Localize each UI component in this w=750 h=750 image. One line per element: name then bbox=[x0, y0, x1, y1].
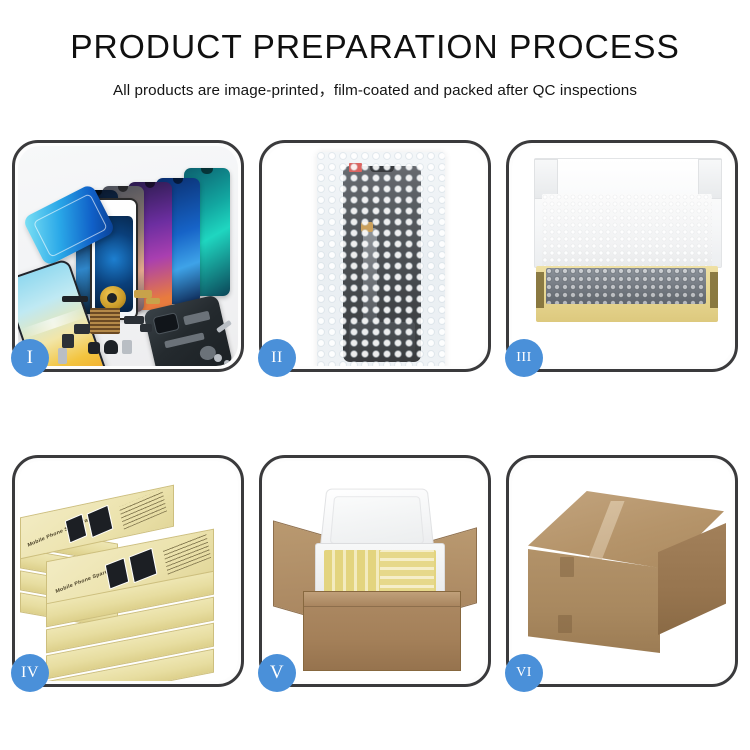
carton-body bbox=[303, 591, 461, 671]
step-badge-4: IV bbox=[11, 654, 49, 692]
white-foam-sheet bbox=[542, 194, 712, 270]
box-spec-lines-front bbox=[163, 533, 211, 574]
part-flex-c bbox=[124, 316, 144, 324]
box-window-rear-b bbox=[87, 505, 114, 538]
box-window-front-b bbox=[129, 548, 158, 584]
panel-4-image: Mobile Phone Spare Parts Mobile Phone Sp… bbox=[18, 461, 238, 681]
panel-2-image bbox=[265, 146, 485, 366]
tray-edge-left bbox=[536, 272, 544, 308]
retail-boxes-row-right bbox=[380, 550, 434, 594]
step-badge-2: II bbox=[258, 339, 296, 377]
process-step-panel-5[interactable]: V bbox=[259, 455, 491, 687]
bubble-texture bbox=[317, 152, 445, 366]
part-screw-a bbox=[214, 354, 222, 362]
part-flex-b bbox=[62, 334, 74, 348]
process-step-panel-2[interactable]: II bbox=[259, 140, 491, 372]
panel-3-image bbox=[512, 146, 732, 366]
part-camera bbox=[104, 340, 118, 354]
camera-module bbox=[152, 312, 179, 335]
process-step-panel-3[interactable]: III bbox=[506, 140, 738, 372]
lid-flap-right bbox=[698, 159, 722, 199]
carton-front-fold bbox=[304, 592, 460, 607]
bubble-wrap-bag bbox=[317, 152, 445, 366]
part-connector bbox=[58, 348, 67, 364]
part-sim-tray bbox=[122, 340, 132, 354]
styrofoam-lid-inner bbox=[330, 496, 425, 544]
process-step-panel-4[interactable]: Mobile Phone Spare Parts Mobile Phone Sp… bbox=[12, 455, 244, 687]
speaker-mesh-part bbox=[90, 308, 120, 334]
part-gold-flex-a bbox=[134, 290, 152, 298]
gray-bubble-layer bbox=[546, 268, 706, 304]
part-earpiece bbox=[62, 296, 88, 302]
header: PRODUCT PREPARATION PROCESS All products… bbox=[0, 0, 750, 100]
part-gold-flex-b bbox=[146, 298, 160, 304]
box-spec-lines-rear bbox=[119, 489, 167, 530]
lid-flap-left bbox=[534, 159, 558, 199]
carton-patch-lower bbox=[558, 615, 572, 633]
panel-1-image bbox=[18, 146, 238, 366]
process-step-grid: I II bbox=[12, 140, 738, 687]
chip-a bbox=[183, 311, 210, 326]
process-step-panel-6[interactable]: VI bbox=[506, 455, 738, 687]
step-badge-6: VI bbox=[505, 654, 543, 692]
tray-edge-right bbox=[710, 272, 718, 308]
part-flex-d bbox=[140, 324, 152, 332]
part-flex-a bbox=[74, 324, 90, 334]
panel-6-image bbox=[512, 461, 732, 681]
taptic-engine-part bbox=[100, 286, 126, 310]
box-window-front-a bbox=[105, 557, 130, 589]
panel-5-image bbox=[265, 461, 485, 681]
chip-b bbox=[164, 332, 205, 348]
process-step-panel-1[interactable]: I bbox=[12, 140, 244, 372]
page-subtitle: All products are image-printed，film-coat… bbox=[0, 78, 750, 100]
part-screw-b bbox=[224, 360, 230, 366]
step-badge-3: III bbox=[505, 339, 543, 377]
step-badge-1: I bbox=[11, 339, 49, 377]
step-badge-5: V bbox=[258, 654, 296, 692]
carton-patch-upper bbox=[560, 557, 574, 577]
part-vibrator bbox=[88, 342, 100, 354]
page-title: PRODUCT PREPARATION PROCESS bbox=[0, 30, 750, 67]
